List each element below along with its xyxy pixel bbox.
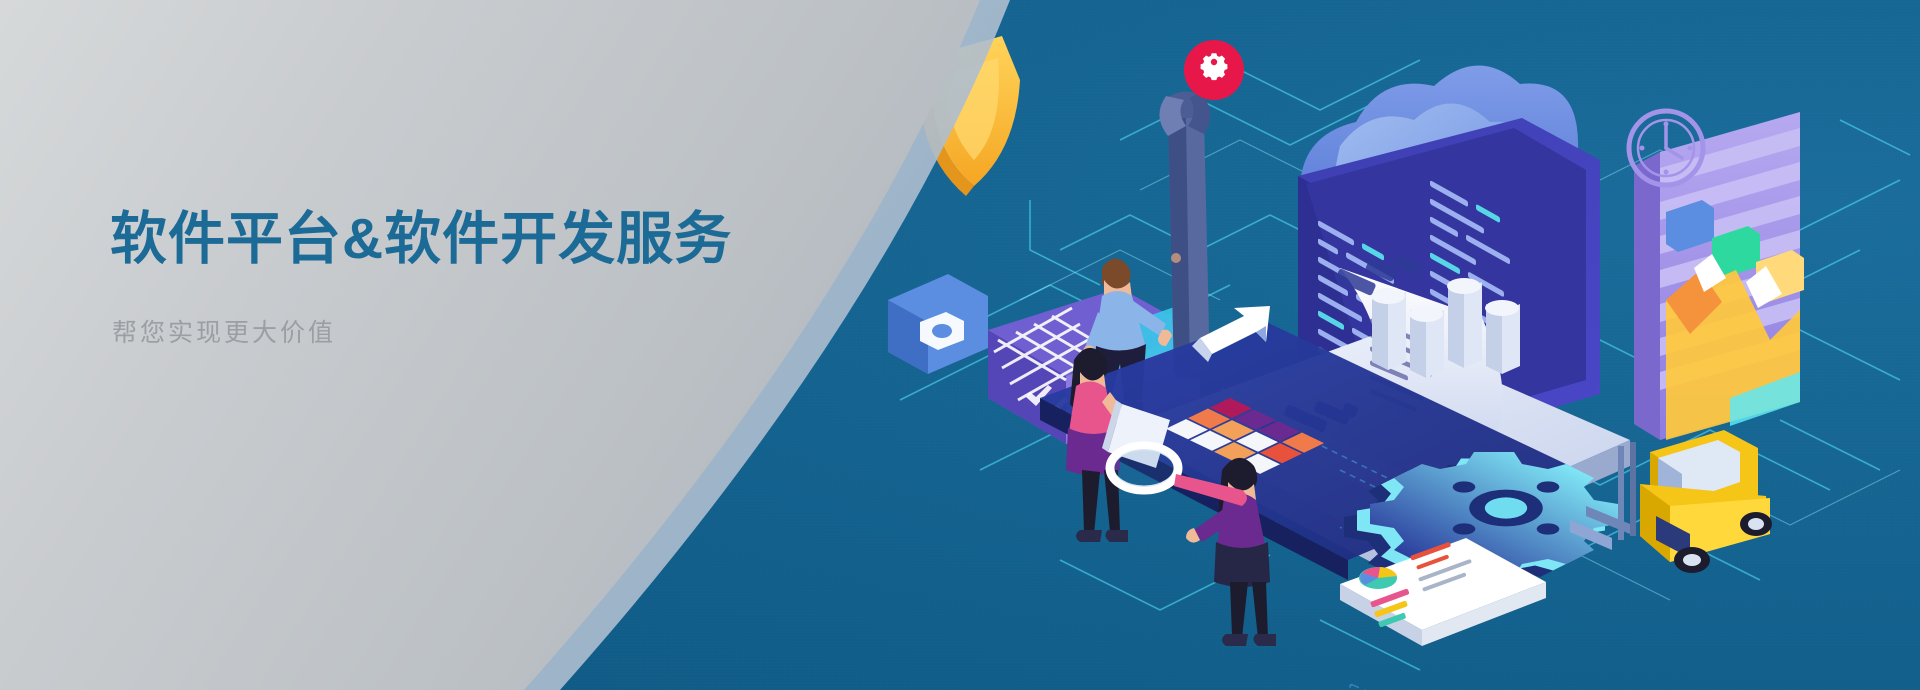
wall-clock-outline-icon	[1629, 111, 1703, 185]
page-subtitle: 帮您实现更大价值	[112, 313, 830, 349]
striped-document-panel	[1634, 112, 1804, 440]
hero-banner: 软件平台&软件开发服务 帮您实现更大价值	[0, 0, 1920, 690]
hero-text-block: 软件平台&软件开发服务 帮您实现更大价值	[110, 205, 830, 349]
page-title: 软件平台&软件开发服务	[110, 205, 830, 275]
settings-gear-badge-icon	[1184, 40, 1244, 100]
